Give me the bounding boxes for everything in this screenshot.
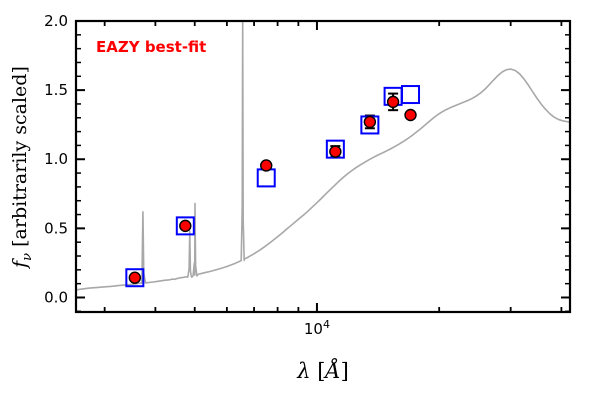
observed-photometry-point-3 (330, 146, 341, 157)
y-tick-label-0.0: 0.0 (44, 288, 68, 306)
x-axis-title-bracket-close: ] (341, 359, 349, 383)
y-axis-title-nu: ν (20, 253, 35, 261)
y-axis-title-group: fν [arbitrarily scaled] (9, 66, 35, 270)
y-axis-title-rest: [arbitrarily scaled] (9, 66, 31, 253)
observed-photometry-circles (129, 96, 416, 283)
y-axis-ticks (76, 21, 570, 311)
model-photometry-square-2 (258, 169, 275, 186)
figure-canvas: 104 0.00.51.01.52.0 λ [Å] fν [arbitraril… (0, 0, 600, 400)
x-axis-title-unit: Å (322, 358, 340, 383)
observed-photometry-point-4 (364, 116, 375, 127)
x-axis-title-bracket: [ (311, 359, 326, 383)
sed-plot: 104 0.00.51.01.52.0 λ [Å] fν [arbitraril… (0, 0, 600, 400)
model-photometry-squares (126, 86, 419, 286)
x-axis-title: λ [Å] (296, 358, 349, 383)
x-tick-label-1e4: 104 (304, 318, 330, 338)
y-tick-label-0.5: 0.5 (44, 219, 68, 237)
observed-photometry-point-1 (180, 220, 191, 231)
observed-photometry-point-0 (129, 272, 140, 283)
x-axis-title-lambda: λ (296, 359, 310, 383)
x-tick-exponent: 4 (323, 318, 330, 331)
observed-photometry-point-6 (405, 110, 416, 121)
plot-frame-rect (76, 21, 570, 312)
y-tick-label-2.0: 2.0 (44, 12, 68, 30)
observed-photometry-point-2 (261, 160, 272, 171)
observed-photometry-point-5 (388, 96, 399, 107)
y-axis-title: fν [arbitrarily scaled] (9, 66, 35, 270)
axes-frame (76, 21, 570, 312)
spectrum-path (76, 21, 570, 290)
x-axis-ticks (105, 21, 562, 312)
y-tick-label-1.0: 1.0 (44, 150, 68, 168)
x-tick-mantissa: 10 (304, 320, 323, 338)
y-tick-label-1.5: 1.5 (44, 81, 68, 99)
y-tick-labels: 0.00.51.01.52.0 (44, 12, 68, 306)
model-photometry-square-6 (402, 86, 419, 103)
legend-label-eazy-best-fit: EAZY best-fit (96, 38, 206, 56)
model-spectrum-line (76, 21, 570, 290)
